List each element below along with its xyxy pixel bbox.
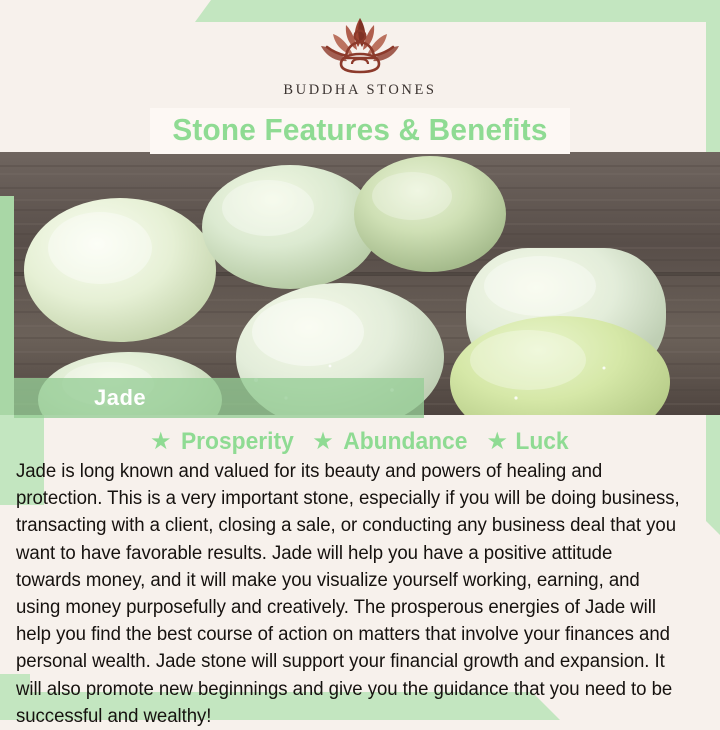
stone-name-band: Jade [14, 378, 424, 418]
page-title: Stone Features & Benefits [158, 112, 561, 148]
benefit-label: Abundance [343, 428, 467, 456]
lotus-meditation-icon [300, 14, 420, 80]
jade-stones-photo-image [0, 152, 720, 415]
brand-header: BUDDHA STONES [0, 0, 720, 108]
title-banner: Stone Features & Benefits [150, 108, 570, 154]
star-icon: ★ [486, 430, 508, 454]
benefit-item-abundance: ★ Abundance [312, 428, 470, 456]
benefit-label: Prosperity [180, 428, 293, 456]
stone-description: Jade is long known and valued for its be… [16, 458, 682, 730]
benefit-label: Luck [515, 428, 568, 456]
benefit-item-luck: ★ Luck [486, 428, 570, 456]
benefit-item-prosperity: ★ Prosperity [150, 428, 296, 456]
benefits-row: ★ Prosperity ★ Abundance ★ Luck [0, 428, 720, 456]
star-icon: ★ [312, 430, 334, 454]
jade-stones-photo [0, 152, 720, 415]
stone-name-label: Jade [94, 385, 146, 411]
brand-name: BUDDHA STONES [283, 82, 436, 99]
star-icon: ★ [150, 430, 172, 454]
